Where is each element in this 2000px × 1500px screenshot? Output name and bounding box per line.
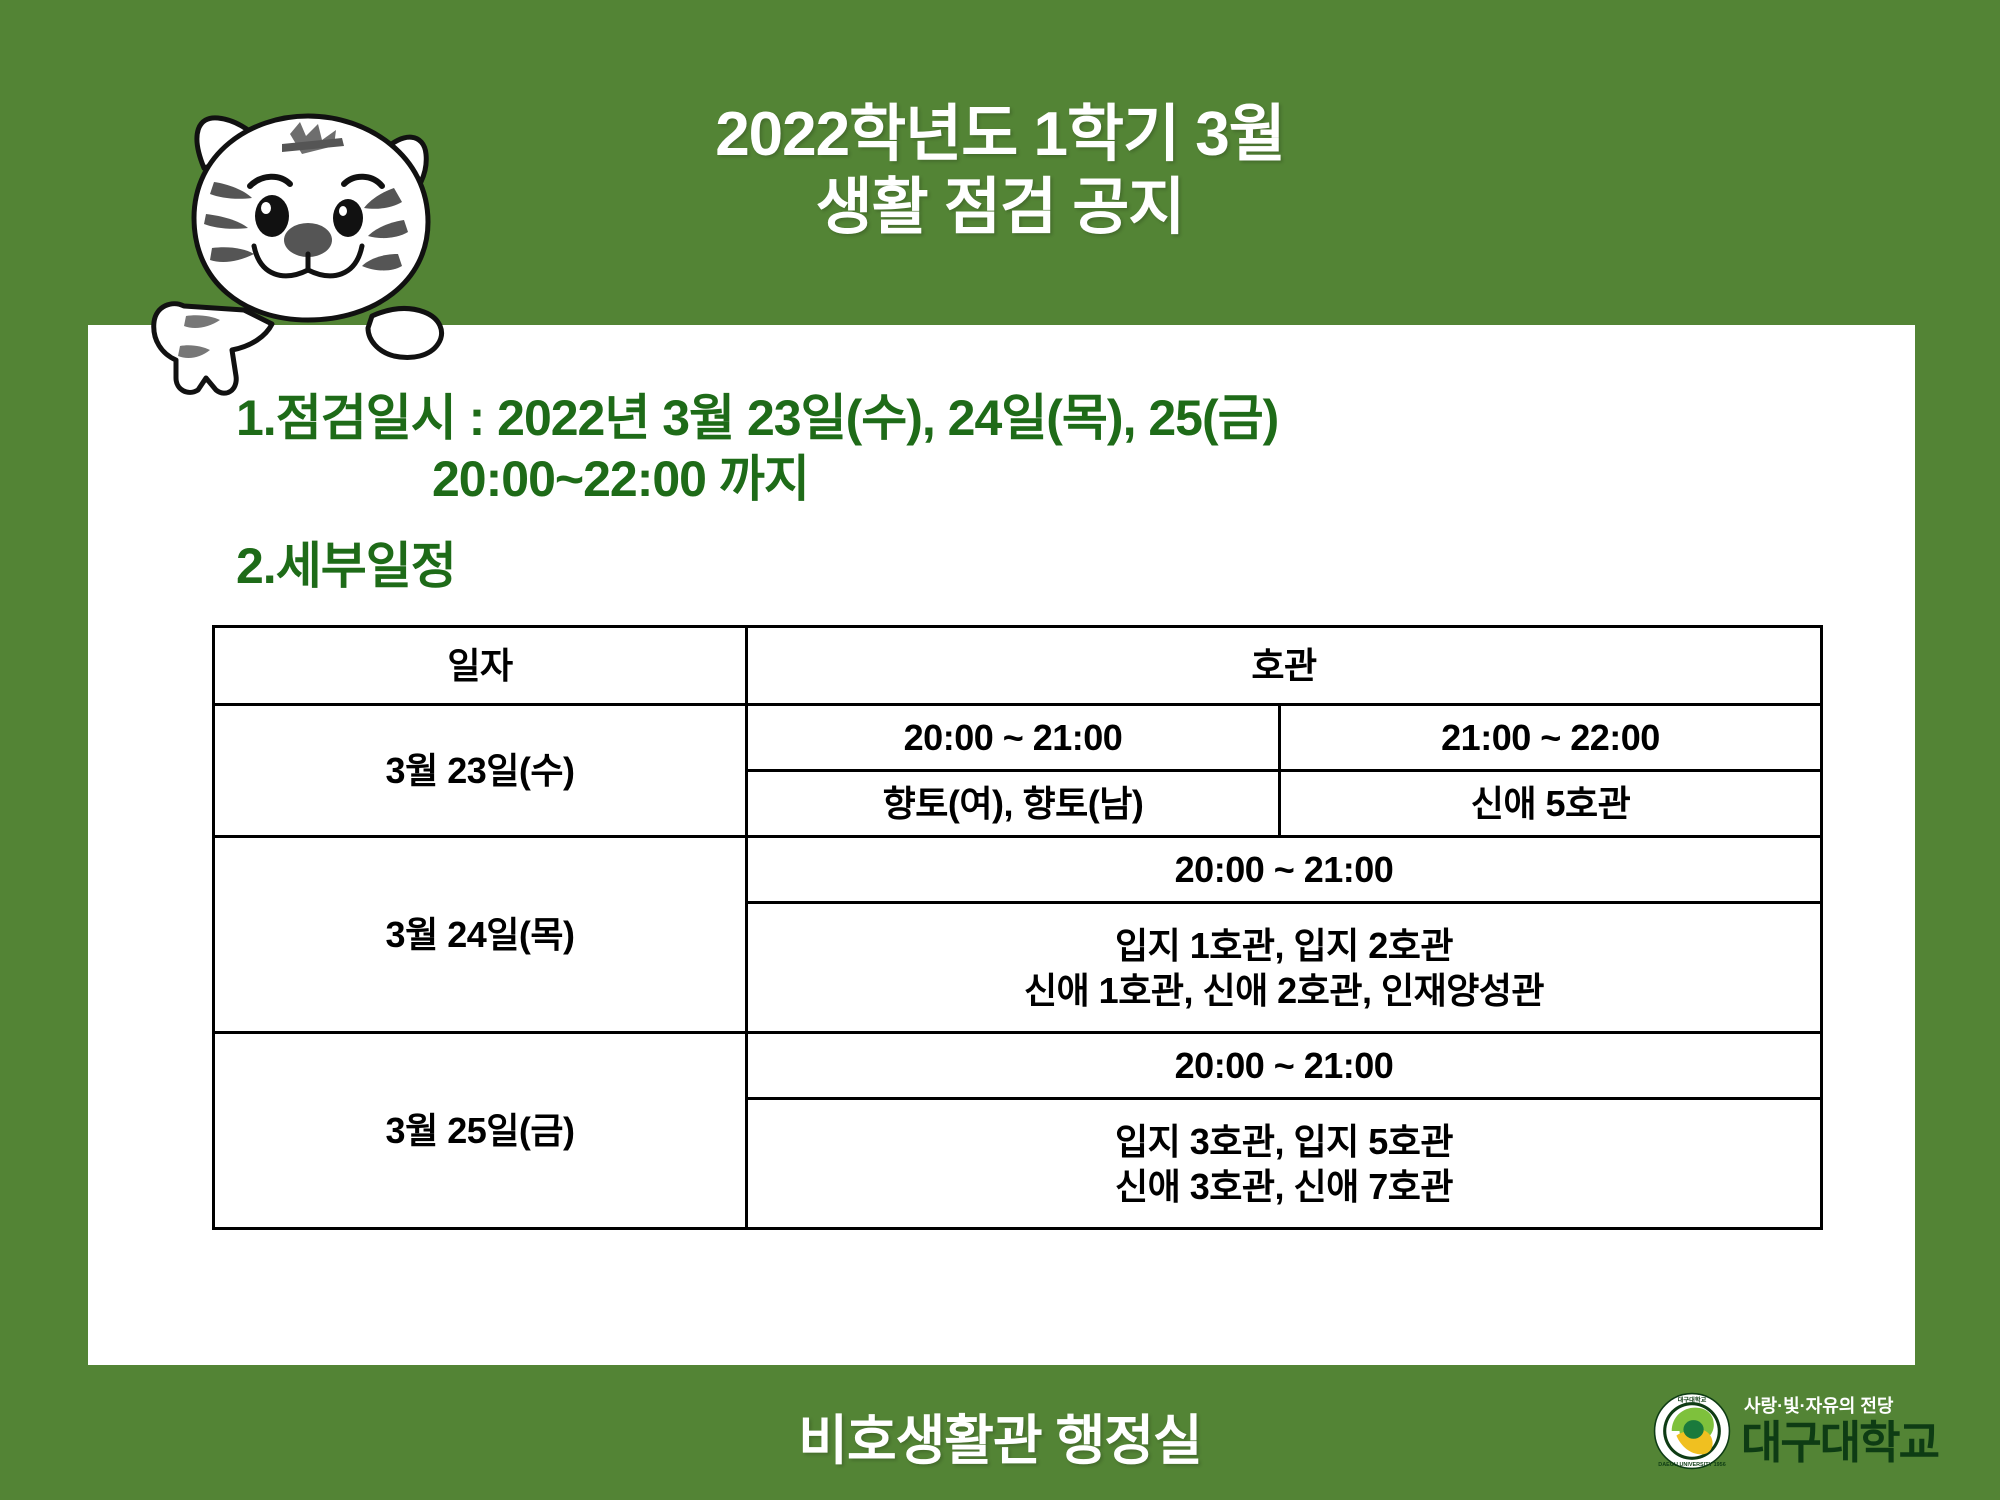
page-title: 2022학년도 1학기 3월 생활 점검 공지 <box>0 98 2000 244</box>
title-line-2: 생활 점검 공지 <box>0 171 2000 244</box>
daegu-university-emblem-icon: 대구대학교 DAEGU UNIVERSITY 1956 <box>1653 1392 1731 1470</box>
row-place-1: 입지 1호관, 입지 2호관 신애 1호관, 신애 2호관, 인재양성관 <box>747 903 1822 1033</box>
row-date-2: 3월 25일(금) <box>214 1033 747 1229</box>
table-row: 3월 23일(수) 20:00 ~ 21:00 21:00 ~ 22:00 <box>214 705 1822 771</box>
header-date: 일자 <box>214 627 747 705</box>
row-place-2: 입지 3호관, 입지 5호관 신애 3호관, 신애 7호관 <box>747 1099 1822 1229</box>
row-place-2-line-1: 입지 3호관, 입지 5호관 <box>1115 1121 1453 1162</box>
table-row: 3월 25일(금) 20:00 ~ 21:00 <box>214 1033 1822 1099</box>
row-date-0: 3월 23일(수) <box>214 705 747 837</box>
row-time-0-1: 21:00 ~ 22:00 <box>1280 705 1822 771</box>
brand-wordmark: 사랑·빛·자유의 전당 대구대학교 <box>1741 1397 1938 1465</box>
row-time-0-0: 20:00 ~ 21:00 <box>747 705 1280 771</box>
row-place-2-line-2: 신애 3호관, 신애 7호관 <box>1115 1166 1453 1207</box>
table-header-row: 일자 호관 <box>214 627 1822 705</box>
brand-tagline: 사랑·빛·자유의 전당 <box>1744 1397 1938 1415</box>
notice-item-1-line-2: 20:00~22:00 까지 <box>236 449 1915 510</box>
row-place-0-0: 향토(여), 향토(남) <box>747 771 1280 837</box>
row-place-1-line-2: 신애 1호관, 신애 2호관, 인재양성관 <box>1024 970 1544 1011</box>
svg-text:DAEGU UNIVERSITY 1956: DAEGU UNIVERSITY 1956 <box>1658 1462 1725 1468</box>
svg-text:대구대학교: 대구대학교 <box>1678 1396 1707 1404</box>
notice-item-1-line-1: 1.점검일시 : 2022년 3월 23일(수), 24일(목), 25(금) <box>236 388 1915 449</box>
row-date-1: 3월 24일(목) <box>214 837 747 1033</box>
table-row: 3월 24일(목) 20:00 ~ 21:00 <box>214 837 1822 903</box>
notice-body: 1.점검일시 : 2022년 3월 23일(수), 24일(목), 25(금) … <box>88 388 1915 598</box>
notice-item-1: 1.점검일시 : 2022년 3월 23일(수), 24일(목), 25(금) … <box>88 388 1915 510</box>
header-building: 호관 <box>747 627 1822 705</box>
title-line-1: 2022학년도 1학기 3월 <box>0 98 2000 171</box>
row-time-1: 20:00 ~ 21:00 <box>747 837 1822 903</box>
brand-name: 대구대학교 <box>1741 1420 1938 1465</box>
university-brand: 대구대학교 DAEGU UNIVERSITY 1956 사랑·빛·자유의 전당 … <box>1653 1392 1938 1470</box>
notice-item-2: 2.세부일정 <box>88 526 1915 598</box>
row-place-1-line-1: 입지 1호관, 입지 2호관 <box>1115 925 1453 966</box>
row-time-2: 20:00 ~ 21:00 <box>747 1033 1822 1099</box>
schedule-table-wrapper: 일자 호관 3월 23일(수) 20:00 ~ 21:00 21:00 ~ 22… <box>212 625 1820 1230</box>
schedule-table: 일자 호관 3월 23일(수) 20:00 ~ 21:00 21:00 ~ 22… <box>212 625 1823 1230</box>
row-place-0-1: 신애 5호관 <box>1280 771 1822 837</box>
